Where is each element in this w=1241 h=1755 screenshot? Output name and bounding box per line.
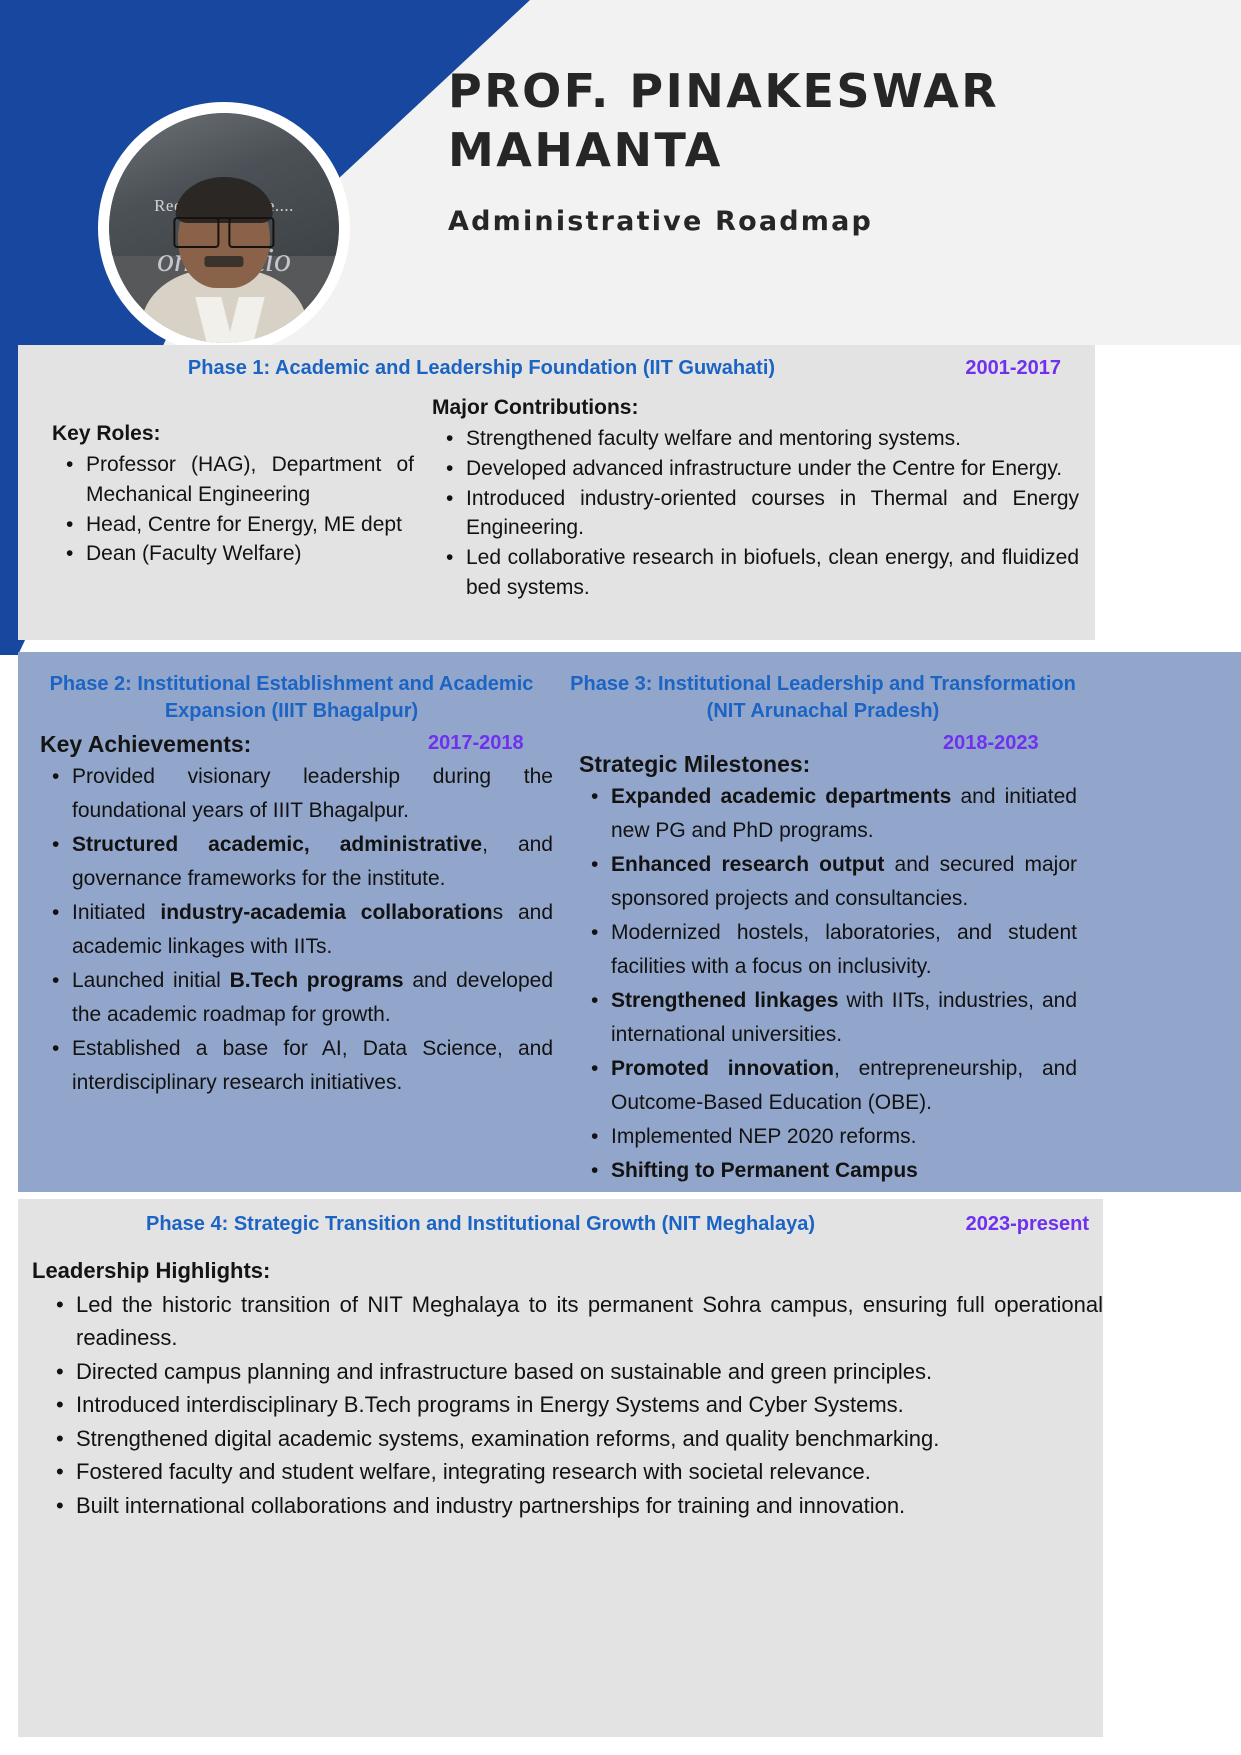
phase-1-major-contributions: Major Contributions: Strengthened facult… [432,396,1079,603]
photo-person-moustache [204,256,243,268]
list-item: Head, Centre for Energy, ME dept [86,510,414,540]
list-item: Directed campus planning and infrastruct… [76,1355,1103,1388]
list-item: Implemented NEP 2020 reforms. [611,1120,1077,1154]
poster-header: Reconnect...oice.... onvocatio PROF. PIN… [0,0,1241,345]
glasses-lens-right [228,217,274,249]
phase-4-title: Phase 4: Strategic Transition and Instit… [18,1199,1103,1238]
list-item: Promoted innovation, entrepreneurship, a… [611,1052,1077,1120]
phase-3-list: Expanded academic departments and initia… [569,780,1077,1188]
phase-4-years: 2023-present [966,1213,1089,1236]
list-item: Developed advanced infrastructure under … [466,454,1079,484]
phase-1-columns: Key Roles: Professor (HAG), Department o… [18,382,1095,603]
phase-1-key-roles: Key Roles: Professor (HAG), Department o… [52,396,432,603]
list-item: Introduced interdisciplinary B.Tech prog… [76,1388,1103,1421]
phase-4-list: Led the historic transition of NIT Megha… [18,1288,1103,1522]
list-item: Structured academic, administrative, and… [72,828,553,896]
list-item: Dean (Faculty Welfare) [86,539,414,569]
list-item: Initiated industry-academia collaboratio… [72,896,553,964]
phase-4-panel: Phase 4: Strategic Transition and Instit… [18,1199,1103,1737]
list-item: Strengthened linkages with IITs, industr… [611,984,1077,1052]
list-item: Led the historic transition of NIT Megha… [76,1288,1103,1355]
phase-2-panel: Phase 2: Institutional Establishment and… [18,652,563,1192]
phase-4-heading: Leadership Highlights: [32,1258,1103,1284]
list-item: Strengthened faculty welfare and mentori… [466,424,1079,454]
phase-1-key-roles-list: Professor (HAG), Department of Mechanica… [52,450,414,569]
phase-3-panel: Phase 3: Institutional Leadership and Tr… [563,652,1083,1192]
list-item: Professor (HAG), Department of Mechanica… [86,450,414,510]
phase-1-key-roles-heading: Key Roles: [52,422,414,446]
list-item: Modernized hostels, laboratories, and st… [611,916,1077,984]
list-item: Strengthened digital academic systems, e… [76,1422,1103,1455]
phase-3-years: 2018-2023 [943,732,1039,755]
list-item: Established a base for AI, Data Science,… [72,1032,553,1100]
avatar-photo: Reconnect...oice.... onvocatio [109,113,339,343]
page-subtitle: Administrative Roadmap [448,206,1168,237]
phase-2-3-band: Phase 2: Institutional Establishment and… [18,652,1241,1192]
photo-person-glasses [173,217,274,245]
phase-1-contributions-list: Strengthened faculty welfare and mentori… [432,424,1079,603]
list-item: Launched initial B.Tech programs and dev… [72,964,553,1032]
avatar: Reconnect...oice.... onvocatio [98,102,350,345]
phase-2-title: Phase 2: Institutional Establishment and… [30,652,553,725]
phase-3-title: Phase 3: Institutional Leadership and Tr… [569,652,1077,725]
phase-1-years: 2001-2017 [965,357,1061,380]
list-item: Enhanced research output and secured maj… [611,848,1077,916]
phase-1-panel: Phase 1: Academic and Leadership Foundat… [18,345,1095,640]
list-item: Led collaborative research in biofuels, … [466,543,1079,603]
phase-3-heading: Strategic Milestones: [579,751,1077,778]
phase-1-title: Phase 1: Academic and Leadership Foundat… [18,345,1095,382]
phase-2-years: 2017-2018 [428,732,524,755]
page-title: PROF. PINAKESWAR MAHANTA [448,62,1168,180]
glasses-lens-left [173,217,219,249]
list-item: Fostered faculty and student welfare, in… [76,1455,1103,1488]
list-item: Built international collaborations and i… [76,1489,1103,1522]
phase-2-list: Provided visionary leadership during the… [30,760,553,1100]
title-block: PROF. PINAKESWAR MAHANTA Administrative … [448,62,1168,237]
glasses-bridge [206,217,243,219]
list-item: Expanded academic departments and initia… [611,780,1077,848]
list-item: Provided visionary leadership during the… [72,760,553,828]
list-item: Introduced industry-oriented courses in … [466,484,1079,544]
list-item: Shifting to Permanent Campus [611,1154,1077,1188]
phase-1-contributions-heading: Major Contributions: [432,396,1079,420]
